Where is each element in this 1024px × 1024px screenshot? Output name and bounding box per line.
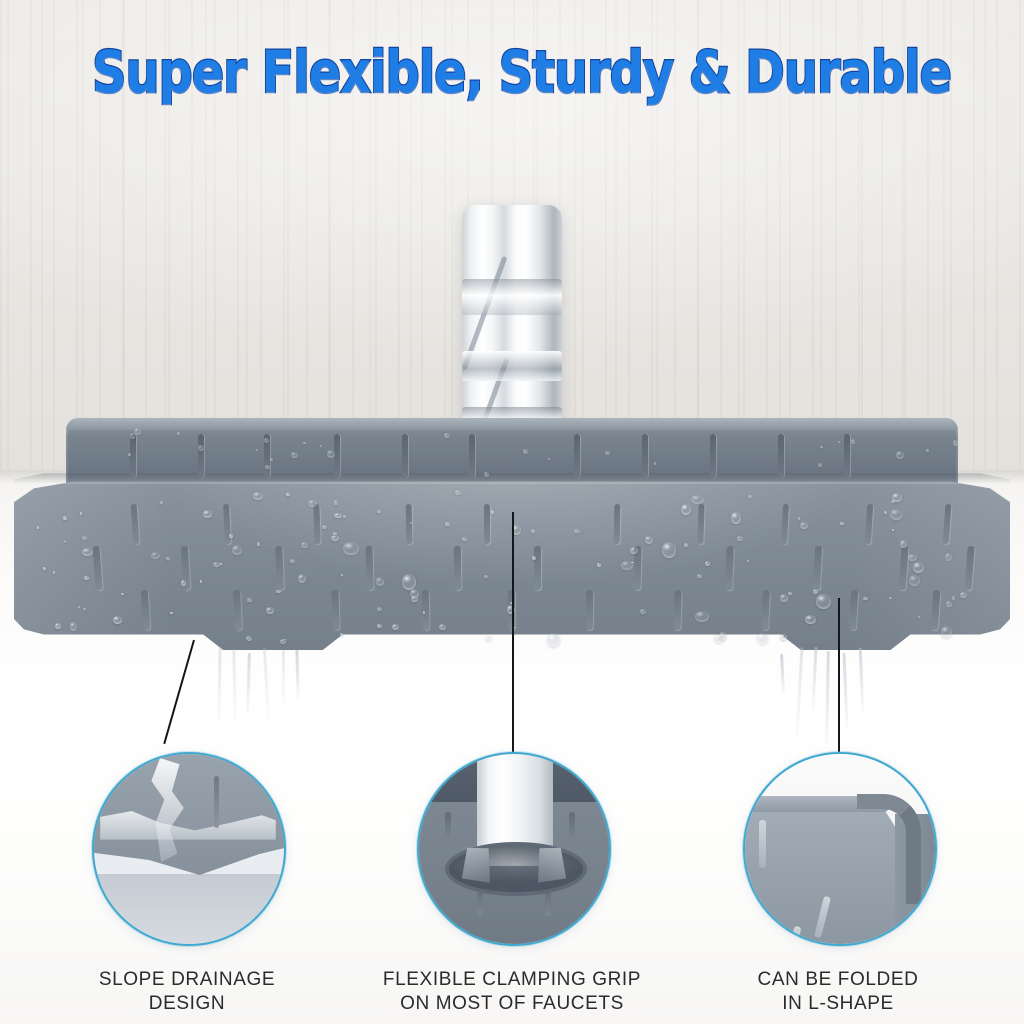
mat-ridge xyxy=(778,434,784,478)
water-droplet xyxy=(662,542,676,557)
water-droplet xyxy=(247,598,252,603)
water-droplet xyxy=(909,575,920,586)
mat-ridge xyxy=(406,504,413,544)
slope-drainage-illustration xyxy=(94,754,284,944)
water-droplet xyxy=(863,597,868,600)
water-droplet xyxy=(229,534,232,538)
callout-circle-slope-drainage xyxy=(92,752,286,946)
mat-ridge xyxy=(710,434,716,478)
water-droplet xyxy=(84,576,89,580)
callout-circle-folded-l-shape xyxy=(743,752,937,946)
water-droplet xyxy=(43,567,46,570)
water-droplet xyxy=(892,493,902,503)
counter-under-mat xyxy=(94,874,284,944)
water-droplet xyxy=(220,563,222,565)
water-droplet xyxy=(816,594,831,609)
water-droplet xyxy=(246,636,252,641)
water-droplet xyxy=(70,622,77,630)
water-droplet xyxy=(945,553,952,561)
water-droplet xyxy=(82,536,88,540)
water-droplet xyxy=(884,511,887,514)
water-droplet xyxy=(423,611,425,614)
mat-inner-lip-shadow xyxy=(14,472,1010,484)
water-droplet xyxy=(838,441,840,443)
water-droplet xyxy=(485,636,492,641)
water-droplet xyxy=(896,451,904,459)
mat-ridge xyxy=(673,590,681,630)
mat-ridge xyxy=(445,812,451,842)
water-droplet xyxy=(697,574,702,578)
water-droplet xyxy=(737,536,742,541)
mat-ridge xyxy=(402,434,408,478)
caption-folded-l-shape: CAN BE FOLDED IN L-SHAPE xyxy=(688,968,988,1017)
water-droplet xyxy=(55,623,61,629)
water-droplet xyxy=(913,562,924,573)
water-droplet xyxy=(166,557,170,560)
water-droplet xyxy=(402,574,416,590)
folded-l-shape-illustration xyxy=(745,754,935,944)
water-droplet xyxy=(547,633,560,647)
water-droplet xyxy=(484,472,489,477)
callout-circle-clamping-grip xyxy=(417,752,611,946)
pointer-line-folded-l-shape xyxy=(838,598,840,752)
water-droplet xyxy=(266,607,274,613)
water-droplet xyxy=(376,577,384,586)
mat-ridge xyxy=(569,812,575,842)
water-droplet xyxy=(203,510,212,517)
water-droplet xyxy=(130,433,136,439)
faucet-reflection-band xyxy=(462,279,562,315)
mat-ridge xyxy=(586,590,593,630)
water-droplet xyxy=(411,596,418,602)
water-droplet xyxy=(908,554,917,561)
caption-clamping-grip: FLEXIBLE CLAMPING GRIP ON MOST OF FAUCET… xyxy=(362,968,662,1017)
water-droplet xyxy=(640,609,646,615)
water-droplet xyxy=(343,542,358,556)
water-droplet xyxy=(256,449,258,451)
water-droplet xyxy=(731,512,742,523)
water-droplet xyxy=(952,596,956,600)
water-droplet xyxy=(170,612,172,615)
water-droplet xyxy=(462,537,467,542)
water-droplet xyxy=(890,509,903,520)
mat-ridge xyxy=(697,504,704,544)
mat-ridge xyxy=(422,590,430,630)
water-droplet xyxy=(892,529,895,531)
mat-ridge xyxy=(642,434,648,478)
water-droplet xyxy=(705,561,710,566)
water-droplet xyxy=(780,634,787,641)
mat-ridge xyxy=(365,546,373,590)
water-droplet xyxy=(681,504,691,515)
water-droplet xyxy=(264,438,269,443)
water-droplet xyxy=(83,608,86,610)
water-droplet xyxy=(445,522,449,526)
page-title: Super Flexible, Sturdy & Durable xyxy=(92,38,932,106)
water-droplet xyxy=(257,542,261,546)
mat-ridge xyxy=(331,590,339,630)
mat-ridge xyxy=(534,546,541,590)
water-droplet xyxy=(341,574,343,576)
water-droplet xyxy=(851,439,855,443)
faucet-reflection-band xyxy=(462,351,562,381)
mat-ridge xyxy=(130,434,136,478)
water-droplet xyxy=(340,633,343,636)
water-droplet xyxy=(484,575,487,578)
water-droplet xyxy=(253,492,262,499)
mat-ridge xyxy=(214,776,219,828)
water-droplet xyxy=(301,542,308,548)
water-droplet xyxy=(889,597,892,599)
water-droplet xyxy=(128,453,131,456)
pointer-line-clamping-grip xyxy=(512,512,514,752)
water-droplet xyxy=(946,601,952,607)
mat-ridge xyxy=(198,434,204,478)
water-droplet xyxy=(377,607,382,611)
clamping-grip-illustration xyxy=(419,754,609,944)
mat-ridge xyxy=(469,434,475,478)
water-droplet xyxy=(80,512,82,514)
mat-ridge xyxy=(454,546,461,590)
water-droplet xyxy=(523,449,528,454)
mat-ridge xyxy=(334,434,340,478)
water-droplet xyxy=(780,594,788,601)
mat-back-lip-top-edge xyxy=(66,418,958,430)
caption-slope-drainage: SLOPE DRAINAGE DESIGN xyxy=(37,968,337,1017)
water-droplet xyxy=(322,525,327,529)
water-droplet xyxy=(691,495,704,504)
water-droplet xyxy=(820,446,822,448)
water-droplet xyxy=(621,561,633,571)
water-droplet xyxy=(926,449,928,451)
water-droplet xyxy=(597,563,601,567)
water-droplet xyxy=(630,547,638,554)
water-droplet xyxy=(788,592,792,595)
water-droplet xyxy=(232,545,243,555)
water-stream xyxy=(282,650,285,706)
mat-ridge xyxy=(844,434,850,478)
water-droplet xyxy=(53,571,56,573)
mat-ridge xyxy=(759,820,766,868)
mat-ridge xyxy=(614,504,621,544)
water-droplet xyxy=(280,639,286,644)
water-droplet xyxy=(491,510,495,514)
water-droplet xyxy=(757,633,767,644)
water-droplet xyxy=(684,543,689,547)
water-droplet xyxy=(953,440,958,445)
water-droplet xyxy=(308,500,317,508)
water-droplet xyxy=(695,611,709,621)
water-droplet xyxy=(198,445,204,451)
water-droplet xyxy=(291,452,298,459)
water-droplet xyxy=(177,432,179,434)
water-droplet xyxy=(918,616,920,618)
product-feature-image: Super Flexible, Sturdy & Durable xyxy=(0,0,1024,1024)
water-droplet xyxy=(840,522,843,525)
water-droplet xyxy=(265,465,269,469)
water-droplet xyxy=(605,451,609,455)
water-droplet xyxy=(818,463,821,466)
mat-ridge xyxy=(484,504,490,544)
water-droplet xyxy=(900,540,907,548)
water-droplet xyxy=(941,626,952,638)
mat-fold-corner xyxy=(857,794,921,904)
mat-ridge xyxy=(574,434,580,478)
water-droplet xyxy=(121,593,124,595)
water-droplet xyxy=(714,634,723,643)
water-droplet xyxy=(455,490,461,495)
water-droplet xyxy=(377,510,381,514)
